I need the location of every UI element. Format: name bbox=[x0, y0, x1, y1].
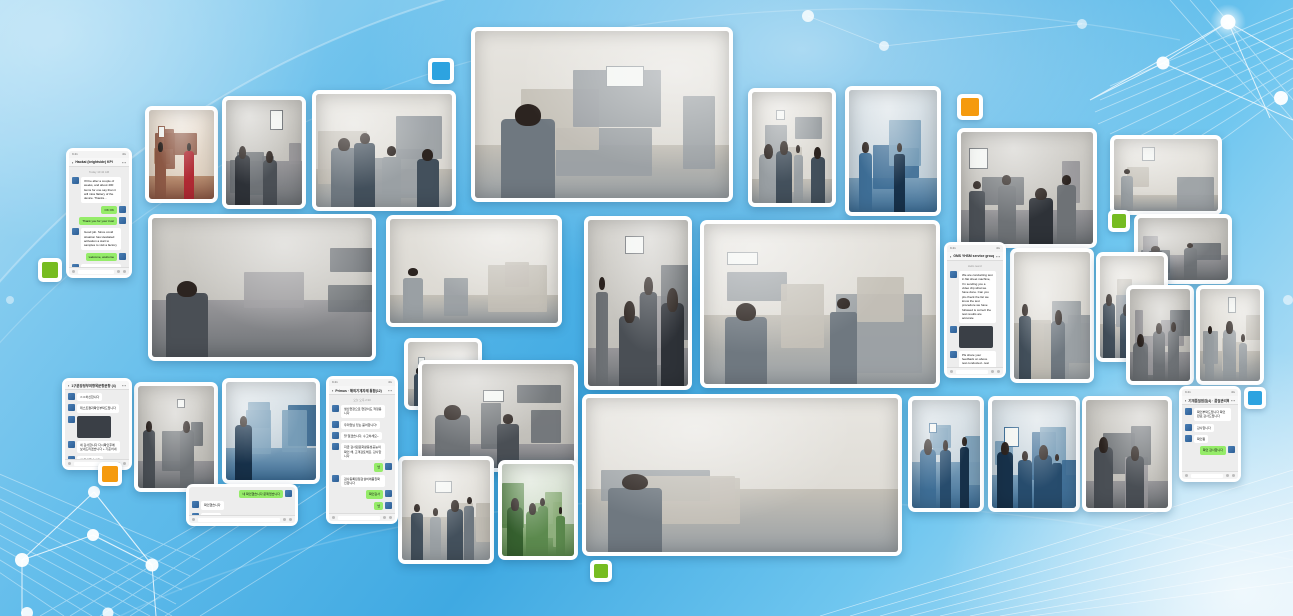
accent-square-green-right bbox=[1108, 210, 1130, 232]
status-time: 9:41 bbox=[72, 153, 78, 156]
photo-image bbox=[992, 400, 1076, 508]
avatar bbox=[119, 206, 126, 213]
photo-image bbox=[1014, 252, 1090, 379]
avatar bbox=[385, 463, 392, 470]
voice-icon[interactable] bbox=[950, 370, 953, 373]
chat-text-input[interactable] bbox=[956, 370, 988, 374]
avatar bbox=[72, 177, 79, 184]
chat-input-bar[interactable] bbox=[1182, 471, 1238, 479]
chat-bubble: 확인 감사합니다 bbox=[1200, 446, 1226, 454]
accent-square-green-bottom bbox=[590, 560, 612, 582]
chat-bubble: 감사합니다 bbox=[1194, 424, 1214, 432]
chat-message: Good job. Since covid situation has Hesi… bbox=[72, 228, 126, 249]
chat-header[interactable]: ‹1구분장정부여항목문항문항 (4)⋯ bbox=[65, 381, 129, 390]
photo-image bbox=[1200, 289, 1260, 381]
accent-swatch bbox=[1248, 391, 1262, 405]
chat-screen: ‹1구분장정부여항목문항문항 (4)⋯ㅇㅇ하신합니다테스트결과확인부탁드립니다네… bbox=[65, 381, 129, 467]
avatar bbox=[68, 393, 75, 400]
photo-image bbox=[138, 386, 214, 488]
voice-icon[interactable] bbox=[332, 516, 335, 519]
photo-white-coat-inspection bbox=[1196, 285, 1264, 385]
back-arrow-icon[interactable]: ‹ bbox=[332, 388, 333, 393]
chat-header[interactable]: ‹Haokai (brightside) KPI⋯ bbox=[69, 158, 129, 167]
chat-input-bar[interactable] bbox=[69, 267, 129, 275]
accent-swatch bbox=[961, 98, 979, 116]
chat-message: 넵 bbox=[332, 502, 392, 510]
photo-image bbox=[588, 220, 688, 386]
chat-message: 확인됨 bbox=[1185, 435, 1235, 443]
emoji-icon[interactable] bbox=[117, 270, 120, 273]
avatar bbox=[1185, 424, 1192, 431]
chat-bubble: 확인했습니다 bbox=[201, 501, 224, 509]
add-attachment-icon[interactable] bbox=[1232, 474, 1235, 477]
chat-message: We are conducting test in flat sheet mac… bbox=[950, 271, 1000, 323]
chat-message: 우리업님 있는 묻어합니다! bbox=[332, 421, 392, 429]
chat-input-bar[interactable] bbox=[947, 367, 1003, 375]
chat-text-input[interactable] bbox=[338, 516, 380, 520]
chat-screen: 9:414G‹기계품질점검(4) · 품질관리해당팀(7)⋯확인부탁드립니다 확… bbox=[1182, 389, 1238, 479]
accent-square-green-left bbox=[38, 258, 62, 282]
chat-message: 네 확인했습니다 문제없습니다 bbox=[192, 490, 292, 498]
chat-message bbox=[950, 326, 1000, 348]
emoji-icon[interactable] bbox=[383, 516, 386, 519]
chat-bubble: 확인됨 bbox=[1194, 435, 1208, 443]
add-attachment-icon[interactable] bbox=[389, 516, 392, 519]
chat-message: 지금 검사원료화활동성공능의확인 해, 고객검토해요. 감사합니다 bbox=[332, 443, 392, 460]
chat-message: 네 감사합니다 다시확인후에 보내드리겠습니다 + 기준치내 bbox=[68, 441, 126, 454]
photo-quality-lab-wide bbox=[582, 394, 902, 556]
avatar bbox=[68, 416, 75, 423]
photo-two-men-electrical-cabinet bbox=[584, 216, 692, 390]
chat-status-bar: 9:414G bbox=[947, 245, 1003, 252]
chat-bubble: 지금 검사원료화활동성공능의확인 해, 고객검토해요. 감사합니다 bbox=[341, 443, 385, 460]
chat-input-bar[interactable] bbox=[329, 513, 395, 521]
chat-message: Pls share your feedback on above test co… bbox=[950, 351, 1000, 367]
wechat-chat-group-left[interactable]: ‹1구분장정부여항목문항문항 (4)⋯ㅇㅇ하신합니다테스트결과확인부탁드립니다네… bbox=[62, 378, 132, 470]
chat-message: It'll be after a couple of weeks, and ab… bbox=[72, 177, 126, 203]
photo-control-room-monitors bbox=[988, 396, 1080, 512]
photo-red-jacket-inspection bbox=[145, 106, 218, 203]
chat-message-list[interactable]: Today 10:42 AMIt'll be after a couple of… bbox=[69, 167, 129, 267]
avatar bbox=[332, 405, 339, 412]
chat-message bbox=[68, 416, 126, 438]
back-arrow-icon[interactable]: ‹ bbox=[1185, 398, 1186, 403]
more-options-icon[interactable]: ⋯ bbox=[1231, 398, 1235, 403]
avatar bbox=[950, 271, 957, 278]
wechat-chat-wide-bottom[interactable]: 네 확인했습니다 문제없습니다확인했습니다감사합니다주말중에 연락드리겠습니다,… bbox=[186, 484, 298, 526]
avatar bbox=[950, 351, 957, 358]
accent-square-orange-left bbox=[98, 462, 122, 486]
avatar bbox=[332, 475, 339, 482]
more-options-icon[interactable]: ⋯ bbox=[122, 383, 126, 388]
chat-bubble: It'll be after a couple of weeks, and ab… bbox=[81, 177, 121, 203]
chat-message: 확인 감사합니다 bbox=[1185, 446, 1235, 454]
avatar bbox=[332, 443, 339, 450]
photo-image bbox=[475, 31, 729, 198]
avatar bbox=[332, 432, 339, 439]
back-arrow-icon[interactable]: ‹ bbox=[72, 160, 73, 165]
status-time: 9:41 bbox=[332, 381, 338, 384]
photo-blue-machine-work bbox=[908, 396, 984, 512]
avatar bbox=[72, 228, 79, 235]
photo-measuring-microscope bbox=[222, 96, 306, 209]
collage-canvas: 9:414G‹Haokai (brightside) KPI⋯Today 10:… bbox=[0, 0, 1293, 616]
chat-bubble: welcome, welcome bbox=[86, 253, 117, 261]
photo-cleanroom-wide-interior bbox=[148, 214, 376, 361]
chat-message: 넵 bbox=[332, 463, 392, 471]
accent-square-blue-right bbox=[1244, 387, 1266, 409]
chat-message: 확인했습니다 bbox=[192, 501, 292, 509]
add-attachment-icon[interactable] bbox=[123, 462, 126, 465]
avatar bbox=[192, 501, 199, 508]
chat-status-bar: 9:414G bbox=[69, 151, 129, 158]
photo-image bbox=[912, 400, 980, 508]
chat-bubble: We are conducting test in flat sheet mac… bbox=[959, 271, 996, 323]
chat-bubble: 우리업님 있는 묻어합니다! bbox=[341, 421, 380, 429]
wechat-chat-korean[interactable]: 9:414G‹Primus · 해외기계자재 통합(12)⋯오늘 오후 2:30… bbox=[326, 376, 398, 524]
chat-message: 검사등록된점검설비에품질확인합니다 bbox=[332, 475, 392, 488]
avatar bbox=[68, 404, 75, 411]
chat-media-thumbnail[interactable] bbox=[959, 326, 993, 348]
more-options-icon[interactable]: ⋯ bbox=[122, 160, 126, 165]
photo-image bbox=[1086, 400, 1168, 508]
chat-status-bar: 9:414G bbox=[1182, 389, 1238, 396]
photo-image bbox=[402, 460, 490, 560]
chat-bubble: 잘 알겠습니다, 수고하세요~ bbox=[341, 432, 382, 440]
chat-system-note: 오늘 오후 2:30 bbox=[332, 398, 392, 402]
chat-message: 확인부탁드립니다 확인완료 감사드립니다 bbox=[1185, 408, 1235, 421]
voice-icon[interactable] bbox=[192, 518, 195, 521]
chat-status-bar: 9:414G bbox=[329, 379, 395, 386]
photo-red-helmet-team bbox=[1126, 285, 1194, 385]
photo-image bbox=[149, 110, 214, 199]
chat-bubble: 테스트결과확인부탁드립니다 bbox=[77, 404, 119, 412]
add-attachment-icon[interactable] bbox=[123, 270, 126, 273]
accent-swatch bbox=[1112, 214, 1126, 228]
emoji-icon[interactable] bbox=[991, 370, 994, 373]
status-time: 9:41 bbox=[950, 247, 956, 250]
chat-message: 테스트결과확인부탁드립니다 bbox=[68, 404, 126, 412]
accent-swatch bbox=[432, 62, 450, 80]
chat-bubble: 확인감사 bbox=[366, 490, 383, 498]
chat-bubble: 확인부탁드립니다 확인완료 감사드립니다 bbox=[1194, 408, 1231, 421]
wechat-chat-bottom-right[interactable]: 9:414G‹기계품질점검(4) · 품질관리해당팀(7)⋯확인부탁드립니다 확… bbox=[1179, 386, 1241, 482]
chat-message: welcome, welcome bbox=[72, 253, 126, 261]
add-attachment-icon[interactable] bbox=[289, 518, 292, 521]
chat-screen: 9:414G‹Primus · 해외기계자재 통합(12)⋯오늘 오후 2:30… bbox=[329, 379, 395, 521]
chat-screen: 9:414G‹Haokai (brightside) KPI⋯Today 10:… bbox=[69, 151, 129, 275]
photo-group-blue-caps bbox=[957, 128, 1097, 248]
accent-swatch bbox=[42, 262, 58, 278]
chat-system-note: Hello team! bbox=[950, 264, 1000, 268]
chat-bubble: 생산현장으로 현장이도 적정용 니다 bbox=[341, 405, 385, 418]
avatar bbox=[1185, 408, 1192, 415]
photo-two-engineers-back bbox=[134, 382, 218, 492]
photo-image bbox=[226, 100, 302, 205]
chat-message: ㅇㅇ하신합니다 bbox=[68, 393, 126, 401]
photo-lab-worktop-blue bbox=[222, 378, 320, 484]
chat-media-thumbnail[interactable] bbox=[77, 416, 111, 438]
photo-image bbox=[316, 94, 452, 207]
photo-image bbox=[390, 219, 558, 323]
photo-image bbox=[1130, 289, 1190, 381]
photo-image bbox=[1114, 139, 1218, 211]
chat-screen: 9:414G‹GMS YHSM service group(12)⋯Hello … bbox=[947, 245, 1003, 375]
accent-swatch bbox=[102, 466, 118, 482]
photo-image bbox=[502, 464, 574, 556]
photo-green-uniform-students bbox=[498, 460, 578, 560]
photo-lab-bench-instruments bbox=[386, 215, 562, 327]
accent-square-orange-top bbox=[957, 94, 983, 120]
more-options-icon[interactable]: ⋯ bbox=[996, 254, 1000, 259]
accent-swatch bbox=[594, 564, 608, 578]
avatar bbox=[385, 502, 392, 509]
back-arrow-icon[interactable]: ‹ bbox=[950, 254, 951, 259]
chat-title: 1구분장정부여항목문항문항 (4) bbox=[71, 383, 120, 388]
chat-message: 확인감사 bbox=[332, 490, 392, 498]
photo-image bbox=[849, 90, 937, 212]
avatar bbox=[68, 441, 75, 448]
photo-image bbox=[961, 132, 1093, 244]
photo-image bbox=[422, 364, 574, 468]
chat-title: GMS YHSM service group(12) bbox=[953, 254, 994, 258]
avatar bbox=[119, 217, 126, 224]
avatar bbox=[119, 253, 126, 260]
status-network: 4G bbox=[122, 153, 126, 156]
avatar bbox=[1228, 446, 1235, 453]
chat-message-list[interactable]: Hello team!We are conducting test in fla… bbox=[947, 261, 1003, 367]
chat-title: 기계품질점검(4) · 품질관리해당팀(7) bbox=[1188, 398, 1229, 403]
photo-team-discussion-bottom bbox=[1082, 396, 1172, 512]
chat-bubble: ㅇㅇ하신합니다 bbox=[77, 393, 102, 401]
photo-blue-machine-lineup bbox=[845, 86, 941, 216]
chat-bubble: 넵 bbox=[374, 502, 383, 510]
photo-image bbox=[226, 382, 316, 480]
chat-message: Thank you for your trust bbox=[72, 217, 126, 225]
photo-image bbox=[704, 224, 936, 384]
voice-icon[interactable] bbox=[72, 270, 75, 273]
avatar bbox=[950, 326, 957, 333]
status-network: 4G bbox=[996, 247, 1000, 250]
photo-image bbox=[586, 398, 898, 552]
chat-message: OK OK bbox=[72, 206, 126, 214]
chat-message: 감사합니다 bbox=[1185, 424, 1235, 432]
chat-bubble: 넵 bbox=[374, 463, 383, 471]
status-network: 4G bbox=[1231, 391, 1235, 394]
chat-bubble: 네 감사합니다 다시확인후에 보내드리겠습니다 + 기준치내 bbox=[77, 441, 120, 454]
chat-text-input[interactable] bbox=[1191, 474, 1223, 478]
photo-machine-white-panel bbox=[1010, 248, 1094, 383]
chat-title: Primus · 해외기계자재 통합(12) bbox=[335, 388, 386, 393]
status-time: 9:41 bbox=[1185, 391, 1191, 394]
chat-bubble: 네 확인했습니다 문제없습니다 bbox=[239, 490, 283, 498]
photo-operator-white-machine bbox=[748, 88, 836, 207]
chat-message-list[interactable]: 오늘 오후 2:30생산현장으로 현장이도 적정용 니다우리업님 있는 묻어합니… bbox=[329, 395, 395, 513]
chat-message: 잘 알겠습니다, 수고하세요~ bbox=[332, 432, 392, 440]
photo-factory-tour-group bbox=[700, 220, 940, 388]
emoji-icon[interactable] bbox=[1226, 474, 1229, 477]
avatar bbox=[385, 490, 392, 497]
chat-header[interactable]: ‹Primus · 해외기계자재 통합(12)⋯ bbox=[329, 386, 395, 395]
photo-cleanroom-three-operators bbox=[471, 27, 733, 202]
whatsapp-chat-english[interactable]: 9:414G‹Haokai (brightside) KPI⋯Today 10:… bbox=[66, 148, 132, 278]
emoji-icon[interactable] bbox=[283, 518, 286, 521]
chat-header[interactable]: ‹기계품질점검(4) · 품질관리해당팀(7)⋯ bbox=[1182, 396, 1238, 405]
chat-text-input[interactable] bbox=[198, 518, 280, 522]
photo-stainless-cabinet-install bbox=[1110, 135, 1222, 215]
chat-input-bar[interactable] bbox=[189, 515, 295, 523]
chat-bubble: Thank you for your trust bbox=[79, 217, 117, 225]
chat-header[interactable]: ‹GMS YHSM service group(12)⋯ bbox=[947, 252, 1003, 261]
chat-message: 생산현장으로 현장이도 적정용 니다 bbox=[332, 405, 392, 418]
chat-message-list[interactable]: 확인부탁드립니다 확인완료 감사드립니다감사합니다확인됨확인 감사합니다 bbox=[1182, 405, 1238, 471]
voice-icon[interactable] bbox=[68, 462, 71, 465]
chat-screen: 네 확인했습니다 문제없습니다확인했습니다감사합니다주말중에 연락드리겠습니다,… bbox=[189, 487, 295, 523]
chat-message-list[interactable]: ㅇㅇ하신합니다테스트결과확인부탁드립니다네 감사합니다 다시확인후에 보내드리겠… bbox=[65, 390, 129, 459]
back-arrow-icon[interactable]: ‹ bbox=[68, 383, 69, 388]
status-network: 4G bbox=[388, 381, 392, 384]
photo-office-meeting-masks bbox=[312, 90, 456, 211]
add-attachment-icon[interactable] bbox=[997, 370, 1000, 373]
whatsapp-chat-gms-service[interactable]: 9:414G‹GMS YHSM service group(12)⋯Hello … bbox=[944, 242, 1006, 378]
chat-title: Haokai (brightside) KPI bbox=[75, 160, 120, 164]
chat-bubble: Good job. Since covid situation has Hesi… bbox=[81, 228, 121, 249]
avatar bbox=[285, 490, 292, 497]
voice-icon[interactable] bbox=[1185, 474, 1188, 477]
accent-square-blue-top bbox=[428, 58, 454, 84]
chat-text-input[interactable] bbox=[78, 270, 114, 274]
chat-system-note: Today 10:42 AM bbox=[72, 170, 126, 174]
photo-image bbox=[752, 92, 832, 203]
chat-message-list[interactable]: 네 확인했습니다 문제없습니다확인했습니다감사합니다주말중에 연락드리겠습니다,… bbox=[189, 487, 295, 515]
chat-bubble: OK OK bbox=[101, 206, 117, 214]
more-options-icon[interactable]: ⋯ bbox=[388, 388, 392, 393]
chat-bubble: Pls share your feedback on above test co… bbox=[959, 351, 996, 367]
chat-bubble: 검사등록된점검설비에품질확인합니다 bbox=[341, 475, 385, 488]
photo-laser-marking-machine bbox=[398, 456, 494, 564]
photo-image bbox=[152, 218, 372, 357]
avatar bbox=[332, 421, 339, 428]
avatar bbox=[1185, 435, 1192, 442]
